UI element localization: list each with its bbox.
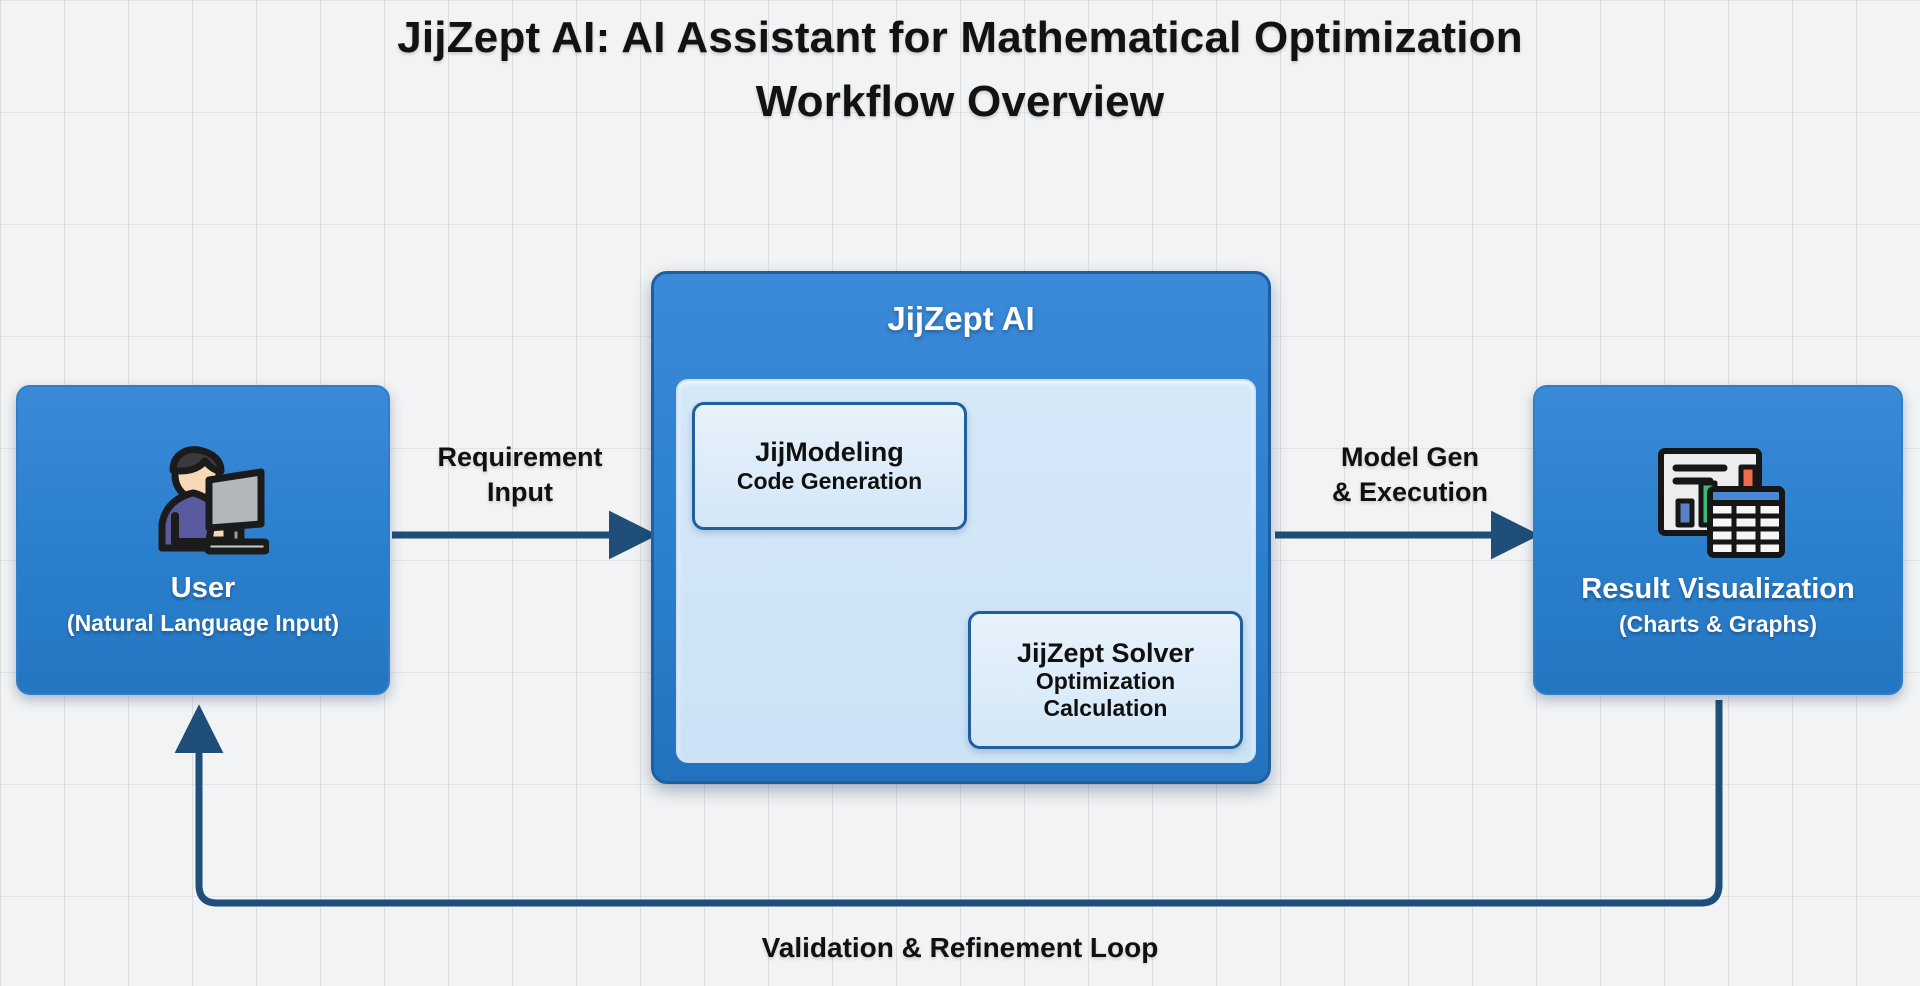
node-user-title: User <box>171 572 236 605</box>
node-jijmodeling-title: JijModeling <box>755 437 904 467</box>
edge-label-requirement-input: Requirement Input <box>390 440 650 510</box>
node-result-visualization[interactable]: Result Visualization (Charts & Graphs) <box>1533 385 1903 695</box>
node-result-visualization-subtitle: (Charts & Graphs) <box>1619 611 1817 638</box>
edge-label-model-gen-execution: Model Gen & Execution <box>1280 440 1540 510</box>
user-at-computer-icon <box>137 444 269 560</box>
node-jijzept-ai-title: JijZept AI <box>654 300 1268 338</box>
node-jijzept-ai[interactable]: JijZept AI JijModeling Code Generation J… <box>651 271 1271 784</box>
node-jijzept-solver-subtitle-2: Calculation <box>1044 695 1168 722</box>
edge-label-line-1: Model Gen <box>1280 440 1540 475</box>
edge-label-line-2: Input <box>390 475 650 510</box>
edge-label-validation-refinement-loop: Validation & Refinement Loop <box>0 932 1920 964</box>
node-jijzept-solver-title: JijZept Solver <box>1017 638 1194 668</box>
node-user[interactable]: User (Natural Language Input) <box>16 385 390 695</box>
node-result-visualization-title: Result Visualization <box>1581 573 1854 606</box>
diagram-canvas: JijZept AI: AI Assistant for Mathematica… <box>0 0 1920 986</box>
node-user-subtitle: (Natural Language Input) <box>67 610 339 637</box>
node-jijmodeling-subtitle: Code Generation <box>737 468 922 495</box>
chart-and-table-icon <box>1648 443 1788 561</box>
node-jijmodeling[interactable]: JijModeling Code Generation <box>692 402 967 530</box>
node-jijzept-solver[interactable]: JijZept Solver Optimization Calculation <box>968 611 1243 749</box>
edge-label-line-1: Requirement <box>390 440 650 475</box>
node-jijzept-solver-subtitle-1: Optimization <box>1036 668 1175 695</box>
edge-label-line-2: & Execution <box>1280 475 1540 510</box>
